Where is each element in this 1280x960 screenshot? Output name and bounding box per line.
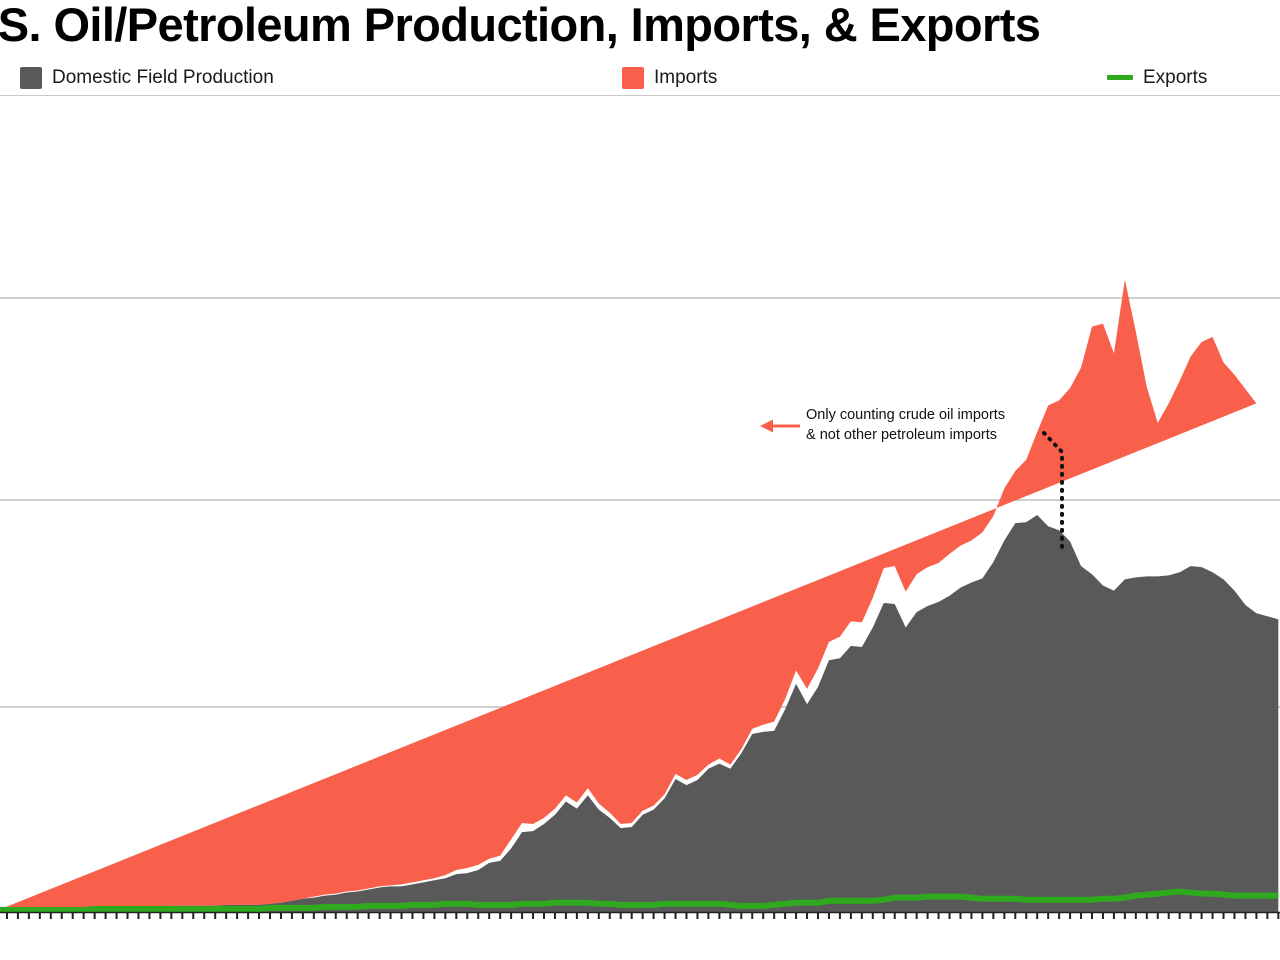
legend-swatch-line-icon (1107, 75, 1133, 80)
x-axis-labels: 1875187718791881188318851887188918911893… (0, 918, 1280, 960)
legend-label: Imports (654, 67, 717, 89)
chart-legend: Domestic Field ProductionImportsExports (0, 60, 1280, 95)
legend-item-domestic-field-production[interactable]: Domestic Field Production (20, 60, 274, 95)
legend-swatch-box-icon (622, 67, 644, 89)
plot-area (0, 96, 1280, 960)
chart-page: U.S. Oil/Petroleum Production, Imports, … (0, 0, 1280, 960)
legend-label: Domestic Field Production (52, 67, 274, 89)
legend-item-imports[interactable]: Imports (622, 60, 717, 95)
page-title: U.S. Oil/Petroleum Production, Imports, … (0, 0, 1040, 54)
title-bar: U.S. Oil/Petroleum Production, Imports, … (0, 0, 1280, 58)
legend-swatch-box-icon (20, 67, 42, 89)
legend-label: Exports (1143, 67, 1207, 89)
area-chart-svg (0, 96, 1280, 960)
legend-item-exports[interactable]: Exports (1107, 60, 1207, 95)
